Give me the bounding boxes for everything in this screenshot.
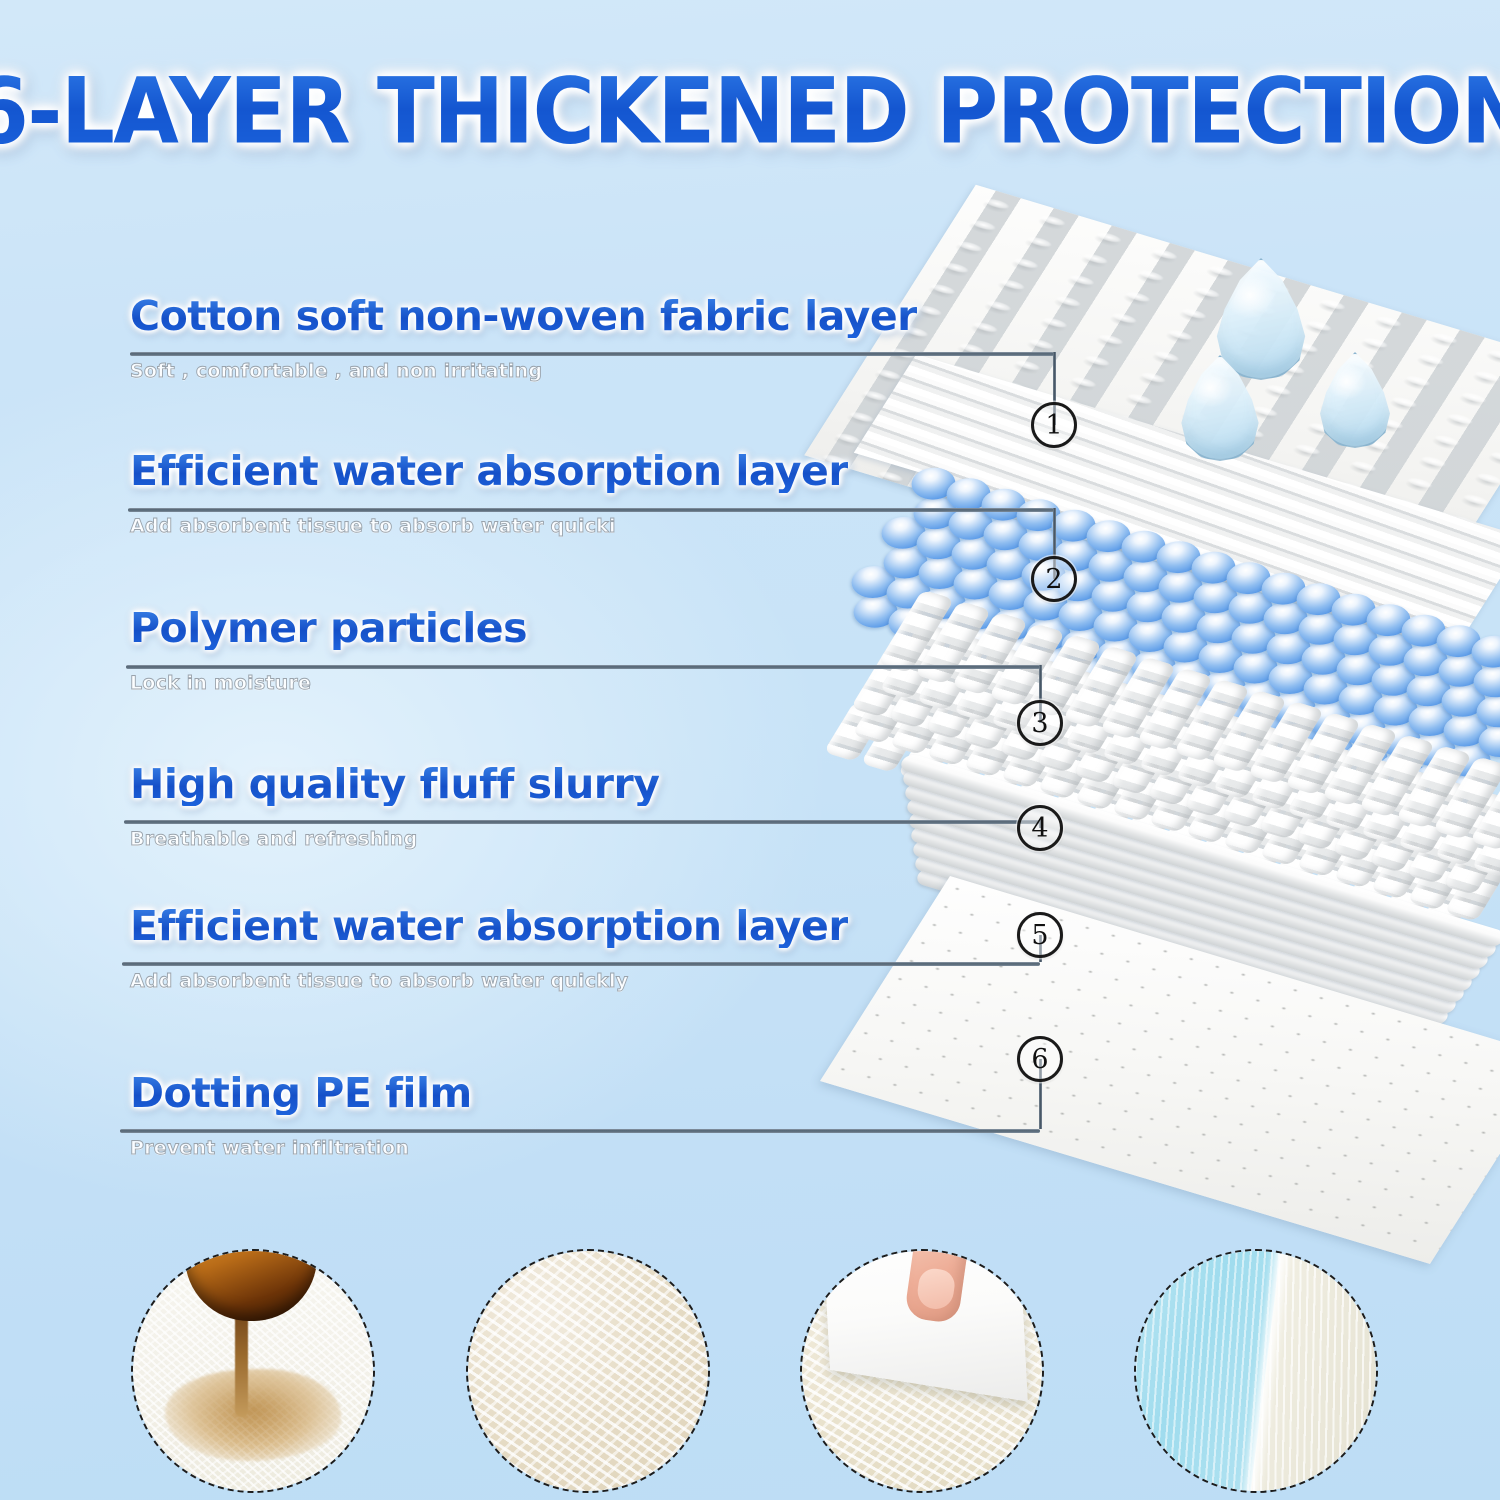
layer-title-4: High quality fluff slurry xyxy=(130,763,659,806)
layer-title-2: Efficient water absorption layer xyxy=(130,450,848,493)
layer-label-3: Polymer particlesLock in moisture xyxy=(130,607,527,694)
leader-line-h-2 xyxy=(128,508,1054,512)
water-droplet-medium xyxy=(1178,355,1262,461)
leader-line-h-3 xyxy=(126,665,1040,669)
layer-title-1: Cotton soft non-woven fabric layer xyxy=(130,295,917,338)
photo-content xyxy=(1136,1251,1376,1491)
layer-title-6: Dotting PE film xyxy=(130,1072,472,1115)
blue-white-fabric-photo xyxy=(1134,1249,1378,1493)
infographic-canvas: 6-LAYER THICKENED PROTECTION Cotton soft… xyxy=(0,0,1500,1500)
page-title: 6-LAYER THICKENED PROTECTION xyxy=(0,58,1500,151)
leader-line-h-6 xyxy=(120,1129,1040,1133)
layer-label-2: Efficient water absorption layerAdd abso… xyxy=(130,450,848,537)
water-droplet-small xyxy=(1317,352,1393,448)
layer-title-5: Efficient water absorption layer xyxy=(130,905,848,948)
leader-line-h-1 xyxy=(130,352,1054,356)
layer-title-3: Polymer particles xyxy=(130,607,527,650)
layer-label-4: High quality fluff slurryBreathable and … xyxy=(130,763,659,850)
fluff-pulp-texture-photo xyxy=(466,1249,710,1493)
layer-subtitle-5: Add absorbent tissue to absorb water qui… xyxy=(130,970,848,992)
leader-line-h-5 xyxy=(122,962,1040,966)
liquid-stream xyxy=(235,1305,248,1417)
layer-subtitle-3: Lock in moisture xyxy=(130,672,527,694)
callout-circle-4: 4 xyxy=(1017,805,1063,851)
droplet-icon xyxy=(1317,352,1393,448)
photo-content xyxy=(133,1251,373,1491)
photo-content xyxy=(802,1251,1042,1491)
layer-subtitle-2: Add absorbent tissue to absorb water qui… xyxy=(130,515,848,537)
liquid-absorption-photo xyxy=(131,1249,375,1493)
callout-circle-5: 5 xyxy=(1017,912,1063,958)
layer-label-6: Dotting PE filmPrevent water infiltratio… xyxy=(130,1072,472,1159)
callout-circle-6: 6 xyxy=(1017,1036,1063,1082)
layer-stack-illustration xyxy=(830,210,1500,1220)
layer-label-1: Cotton soft non-woven fabric layerSoft ,… xyxy=(130,295,917,382)
droplet-icon xyxy=(1178,355,1262,461)
callout-circle-2: 2 xyxy=(1031,556,1077,602)
liquid-puddle xyxy=(165,1369,341,1461)
layer-label-5: Efficient water absorption layerAdd abso… xyxy=(130,905,848,992)
tissue-press-photo xyxy=(800,1249,1044,1493)
page-title-text: 6-LAYER THICKENED PROTECTION xyxy=(0,58,1500,164)
callout-circle-3: 3 xyxy=(1017,700,1063,746)
layer-subtitle-6: Prevent water infiltration xyxy=(130,1137,472,1159)
photo-content xyxy=(468,1251,708,1491)
callout-circle-1: 1 xyxy=(1031,402,1077,448)
layer-subtitle-4: Breathable and refreshing xyxy=(130,828,659,850)
layer-subtitle-1: Soft , comfortable , and non irritating xyxy=(130,360,917,382)
leader-line-h-4 xyxy=(124,820,1040,824)
